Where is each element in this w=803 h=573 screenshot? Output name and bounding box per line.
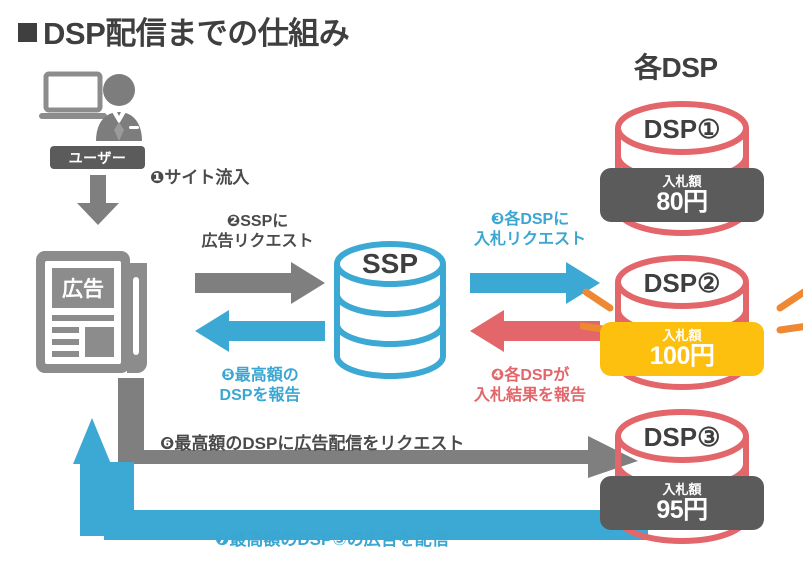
dsp-card-3[interactable]: DSP③ 入札額 95円 [612, 404, 752, 549]
arrow-elbow-up-blue-icon [48, 400, 648, 540]
bid-caption-3: 入札額 [662, 483, 701, 496]
dsp-name-2: DSP② [644, 268, 721, 298]
bid-amount-1: 80円 [656, 190, 707, 215]
sparkle-lines-right-icon [770, 286, 803, 348]
page-title-text: DSP配信までの仕組み [43, 16, 349, 51]
bid-caption-2: 入札額 [662, 329, 701, 342]
arrow-left-blue-icon [195, 310, 325, 352]
arrow-right-gray-icon [195, 262, 325, 304]
dsp-card-1[interactable]: DSP① 入札額 80円 [612, 96, 752, 241]
bid-box-1: 入札額 80円 [600, 168, 764, 222]
step-1-label: ❶サイト流入 [150, 168, 249, 189]
bid-amount-2: 100円 [650, 344, 715, 369]
dsp-name-1: DSP① [644, 114, 721, 144]
laptop-user-icon [38, 68, 158, 153]
diagram-canvas: DSP配信までの仕組み 各DSP ユーザー ❶サイト流入 広告 [0, 0, 803, 573]
step-2-label: ❷SSPに 広告リクエスト [185, 212, 330, 251]
dsp-card-2[interactable]: DSP② 入札額 100円 [612, 250, 752, 395]
dsp-name-3: DSP③ [644, 422, 721, 452]
step-3-label: ❸各DSPに 入札リクエスト [455, 210, 605, 249]
arrow-down-gray-icon [76, 175, 120, 225]
step-7-label: ❼最高額のDSP③の広告を配信 [215, 530, 449, 551]
ssp-label-overlay [330, 240, 450, 380]
newspaper-icon: 広告 [33, 245, 153, 378]
bid-amount-3: 95円 [656, 498, 707, 523]
user-badge: ユーザー [50, 146, 145, 169]
bid-box-2: 入札額 100円 [600, 322, 764, 376]
square-bullet-icon [18, 23, 37, 42]
dsp-group-title: 各DSP [634, 46, 718, 86]
bid-box-3: 入札額 95円 [600, 476, 764, 530]
svg-text:広告: 広告 [62, 278, 104, 301]
page-title: DSP配信までの仕組み [18, 8, 349, 53]
bid-caption-1: 入札額 [662, 175, 701, 188]
